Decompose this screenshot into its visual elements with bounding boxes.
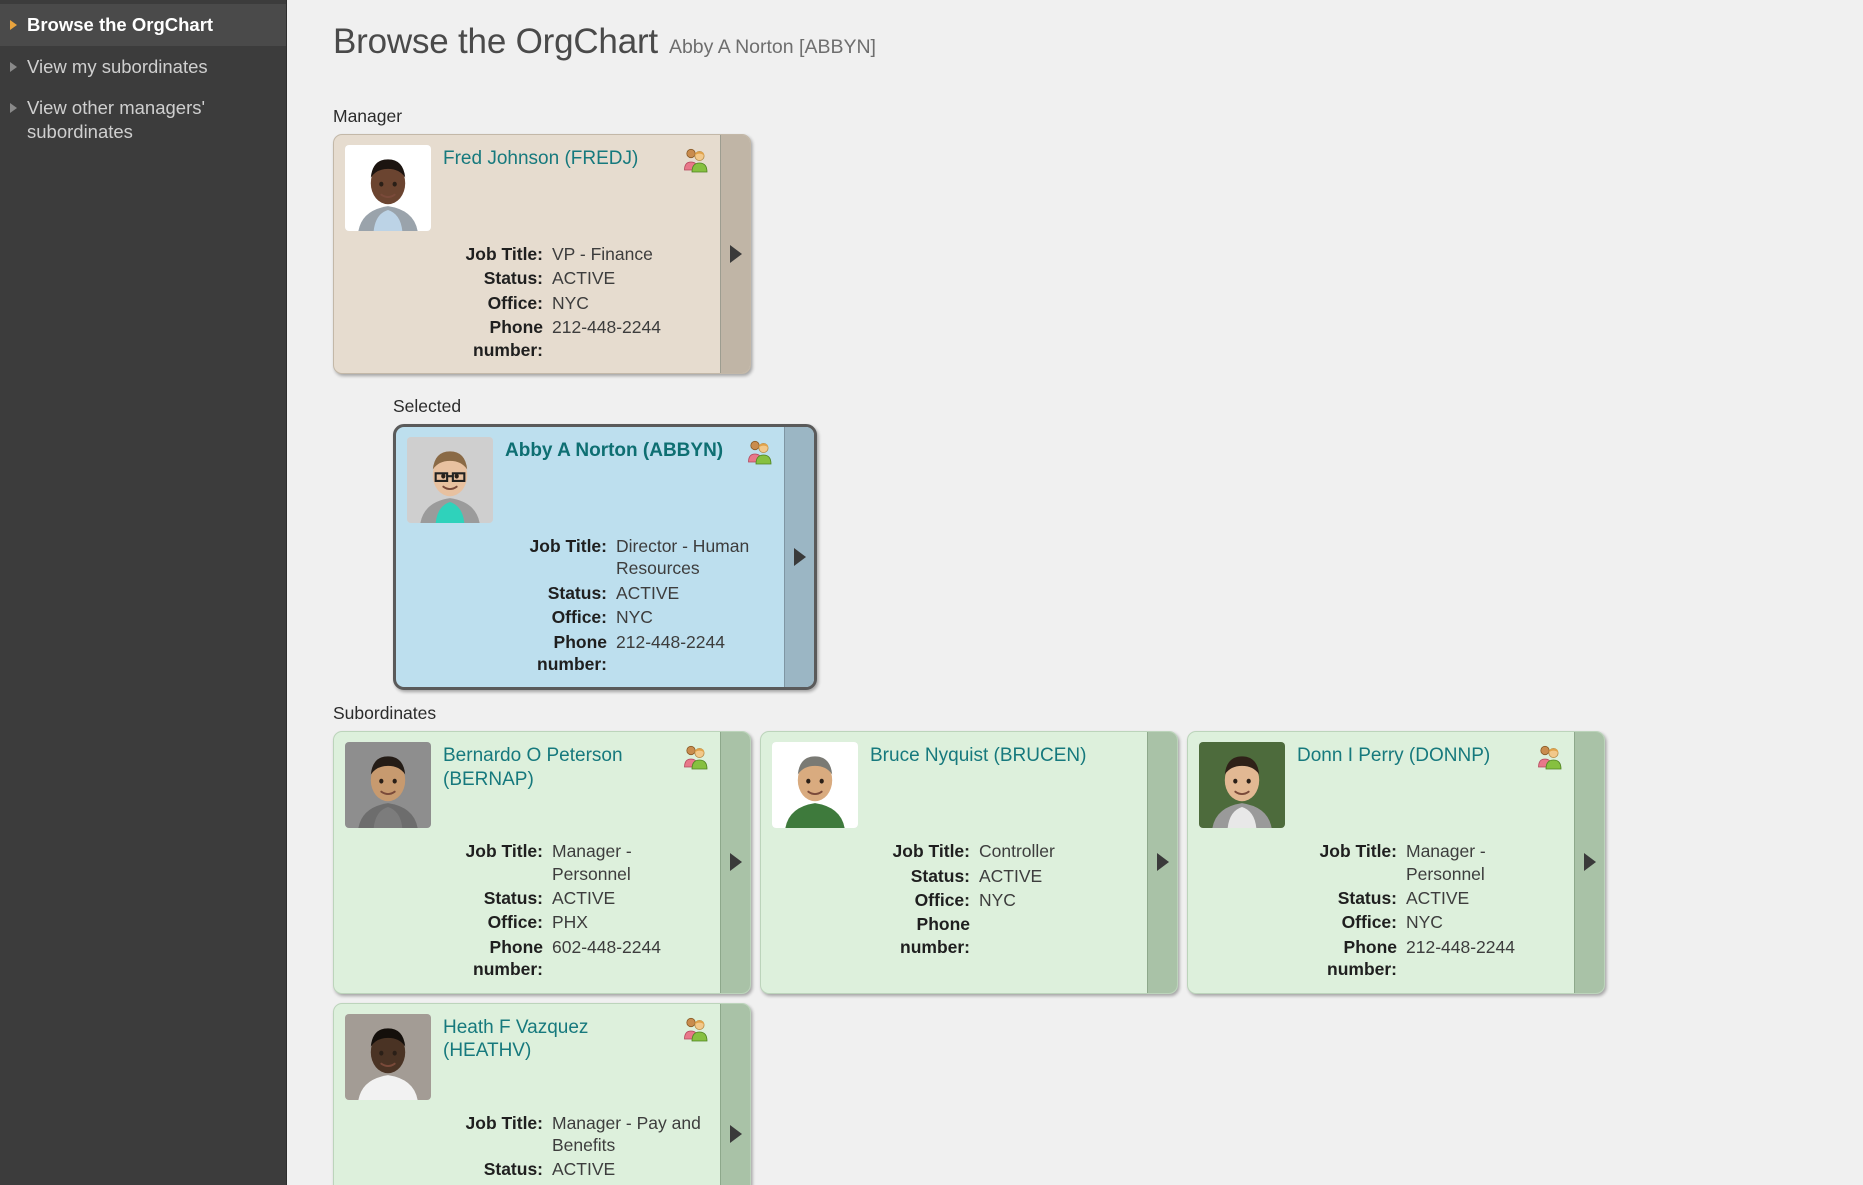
detail-value-job_title: Manager - Personnel <box>552 840 710 885</box>
main-content: Browse the OrgChart Abby A Norton [ABBYN… <box>287 0 1863 1185</box>
detail-label-phone: Phone number: <box>439 316 543 361</box>
avatar <box>772 742 858 828</box>
person-card-body: Bruce Nyquist (BRUCEN)Job Title:Controll… <box>761 732 1147 992</box>
expand-card-button[interactable] <box>1574 732 1604 992</box>
detail-label-status: Status: <box>439 1158 543 1180</box>
page-title: Browse the OrgChart <box>333 22 658 62</box>
detail-value-status: ACTIVE <box>616 582 774 604</box>
detail-value-phone: 212-448-2244 <box>1406 936 1564 981</box>
sidebar-item-label: Browse the OrgChart <box>27 13 272 37</box>
section-label: Subordinates <box>333 703 1863 724</box>
person-card-body: Heath F Vazquez (HEATHV)Job Title:Manage… <box>334 1004 720 1185</box>
detail-value-phone <box>979 913 1137 958</box>
detail-value-phone: 212-448-2244 <box>552 316 710 361</box>
card-row: Fred Johnson (FREDJ)Job Title:VP - Finan… <box>333 134 1863 374</box>
detail-label-office: Office: <box>1293 911 1397 933</box>
people-group-icon[interactable] <box>682 744 710 770</box>
person-card[interactable]: Heath F Vazquez (HEATHV)Job Title:Manage… <box>333 1003 751 1185</box>
avatar <box>1199 742 1285 828</box>
person-name-wrap: Fred Johnson (FREDJ) <box>443 145 676 171</box>
detail-label-phone: Phone number: <box>1293 936 1397 981</box>
chevron-right-icon <box>1157 853 1169 871</box>
detail-value-phone: 212-448-2244 <box>616 631 774 676</box>
person-card[interactable]: Bruce Nyquist (BRUCEN)Job Title:Controll… <box>760 731 1178 993</box>
person-card-header: Bernardo O Peterson (BERNAP) <box>345 742 710 828</box>
detail-value-office: NYC <box>552 292 710 314</box>
people-group-icon[interactable] <box>746 439 774 465</box>
person-card-body: Abby A Norton (ABBYN)Job Title:Director … <box>396 427 784 687</box>
person-name-wrap: Bruce Nyquist (BRUCEN) <box>870 742 1137 768</box>
triangle-right-icon <box>10 62 17 72</box>
card-row: Abby A Norton (ABBYN)Job Title:Director … <box>393 424 1863 690</box>
chevron-right-icon <box>730 853 742 871</box>
person-name-wrap: Donn I Perry (DONNP) <box>1297 742 1530 768</box>
detail-label-status: Status: <box>866 865 970 887</box>
person-card-header: Fred Johnson (FREDJ) <box>345 145 710 231</box>
page-header: Browse the OrgChart Abby A Norton [ABBYN… <box>333 22 1863 62</box>
detail-value-office: NYC <box>979 889 1137 911</box>
people-group-icon[interactable] <box>1536 744 1564 770</box>
detail-label-phone: Phone number: <box>439 936 543 981</box>
detail-label-job_title: Job Title: <box>439 243 543 265</box>
sidebar-item-1[interactable]: View my subordinates <box>0 46 286 88</box>
detail-label-job_title: Job Title: <box>1293 840 1397 885</box>
sidebar-item-0[interactable]: Browse the OrgChart <box>0 4 286 46</box>
avatar <box>345 742 431 828</box>
detail-label-job_title: Job Title: <box>439 840 543 885</box>
person-card-header: Donn I Perry (DONNP) <box>1199 742 1564 828</box>
person-name-link[interactable]: Fred Johnson (FREDJ) <box>443 148 638 169</box>
sidebar-item-2[interactable]: View other managers' subordinates <box>0 87 286 152</box>
page-subtitle: Abby A Norton [ABBYN] <box>669 36 876 59</box>
detail-label-status: Status: <box>439 887 543 909</box>
section-selected: SelectedAbby A Norton (ABBYN)Job Title:D… <box>393 396 1863 690</box>
sidebar: Browse the OrgChartView my subordinatesV… <box>0 0 287 1185</box>
detail-label-status: Status: <box>503 582 607 604</box>
person-card-header: Bruce Nyquist (BRUCEN) <box>772 742 1137 828</box>
detail-value-job_title: Controller <box>979 840 1137 862</box>
person-details: Job Title:VP - FinanceStatus:ACTIVEOffic… <box>439 243 710 361</box>
triangle-right-icon <box>10 103 17 113</box>
person-name-link[interactable]: Donn I Perry (DONNP) <box>1297 745 1490 766</box>
sidebar-item-label: View my subordinates <box>27 55 272 79</box>
chevron-right-icon <box>730 245 742 263</box>
avatar <box>345 145 431 231</box>
detail-value-job_title: VP - Finance <box>552 243 710 265</box>
detail-value-status: ACTIVE <box>552 1158 710 1180</box>
detail-label-office: Office: <box>439 292 543 314</box>
person-card-body: Bernardo O Peterson (BERNAP)Job Title:Ma… <box>334 732 720 992</box>
person-name-link[interactable]: Heath F Vazquez (HEATHV) <box>443 1017 588 1062</box>
person-card[interactable]: Fred Johnson (FREDJ)Job Title:VP - Finan… <box>333 134 751 374</box>
chevron-right-icon <box>1584 853 1596 871</box>
person-name-wrap: Bernardo O Peterson (BERNAP) <box>443 742 676 791</box>
orgchart-app: Browse the OrgChartView my subordinatesV… <box>0 0 1863 1185</box>
detail-value-phone: 602-448-2244 <box>552 936 710 981</box>
detail-label-office: Office: <box>439 911 543 933</box>
chevron-right-icon <box>730 1125 742 1143</box>
person-card-body: Fred Johnson (FREDJ)Job Title:VP - Finan… <box>334 135 720 373</box>
person-details: Job Title:ControllerStatus:ACTIVEOffice:… <box>866 840 1137 958</box>
detail-value-office: PHX <box>552 911 710 933</box>
detail-label-phone: Phone number: <box>503 631 607 676</box>
detail-value-status: ACTIVE <box>552 887 710 909</box>
person-name-wrap: Heath F Vazquez (HEATHV) <box>443 1014 676 1063</box>
detail-label-office: Office: <box>503 606 607 628</box>
person-name-link[interactable]: Bruce Nyquist (BRUCEN) <box>870 745 1086 766</box>
person-card[interactable]: Bernardo O Peterson (BERNAP)Job Title:Ma… <box>333 731 751 993</box>
person-details: Job Title:Manager - PersonnelStatus:ACTI… <box>439 840 710 980</box>
expand-card-button[interactable] <box>720 135 750 373</box>
person-details: Job Title:Manager - PersonnelStatus:ACTI… <box>1293 840 1564 980</box>
expand-card-button[interactable] <box>1147 732 1177 992</box>
detail-label-office: Office: <box>866 889 970 911</box>
detail-value-job_title: Manager - Pay and Benefits <box>552 1112 710 1157</box>
person-name-wrap: Abby A Norton (ABBYN) <box>505 437 740 463</box>
detail-value-office: NYC <box>1406 911 1564 933</box>
triangle-right-icon <box>10 20 17 30</box>
expand-card-button[interactable] <box>720 732 750 992</box>
section-label: Manager <box>333 106 1863 127</box>
person-card[interactable]: Abby A Norton (ABBYN)Job Title:Director … <box>393 424 817 690</box>
chevron-right-icon <box>794 548 806 566</box>
avatar <box>407 437 493 523</box>
person-details: Job Title:Manager - Pay and BenefitsStat… <box>439 1112 710 1185</box>
people-group-icon[interactable] <box>682 1016 710 1042</box>
detail-value-job_title: Manager - Personnel <box>1406 840 1564 885</box>
detail-label-job_title: Job Title: <box>866 840 970 862</box>
expand-card-button[interactable] <box>784 427 814 687</box>
section-label: Selected <box>393 396 1863 417</box>
detail-value-status: ACTIVE <box>1406 887 1564 909</box>
section-manager: ManagerFred Johnson (FREDJ)Job Title:VP … <box>333 106 1863 374</box>
detail-value-status: ACTIVE <box>552 267 710 289</box>
detail-label-phone: Phone number: <box>866 913 970 958</box>
person-details: Job Title:Director - Human ResourcesStat… <box>503 535 774 675</box>
sidebar-item-label: View other managers' subordinates <box>27 96 272 143</box>
detail-value-office: NYC <box>616 606 774 628</box>
person-card-header: Heath F Vazquez (HEATHV) <box>345 1014 710 1100</box>
person-card[interactable]: Donn I Perry (DONNP)Job Title:Manager - … <box>1187 731 1605 993</box>
detail-label-job_title: Job Title: <box>503 535 607 580</box>
person-name-link[interactable]: Abby A Norton (ABBYN) <box>505 440 723 461</box>
orgchart-sections: ManagerFred Johnson (FREDJ)Job Title:VP … <box>333 106 1863 1185</box>
card-row: Bernardo O Peterson (BERNAP)Job Title:Ma… <box>333 731 1863 1185</box>
detail-value-status: ACTIVE <box>979 865 1137 887</box>
expand-card-button[interactable] <box>720 1004 750 1185</box>
detail-label-status: Status: <box>439 267 543 289</box>
people-group-icon[interactable] <box>682 147 710 173</box>
section-subordinate: SubordinatesBernardo O Peterson (BERNAP)… <box>333 703 1863 1185</box>
avatar <box>345 1014 431 1100</box>
detail-value-job_title: Director - Human Resources <box>616 535 774 580</box>
person-card-body: Donn I Perry (DONNP)Job Title:Manager - … <box>1188 732 1574 992</box>
detail-label-job_title: Job Title: <box>439 1112 543 1157</box>
detail-label-status: Status: <box>1293 887 1397 909</box>
person-card-header: Abby A Norton (ABBYN) <box>407 437 774 523</box>
person-name-link[interactable]: Bernardo O Peterson (BERNAP) <box>443 745 623 790</box>
